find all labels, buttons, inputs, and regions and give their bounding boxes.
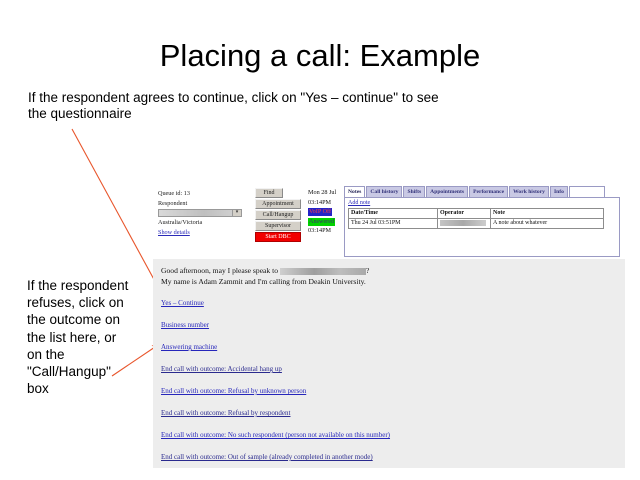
respondent-label: Respondent <box>158 199 248 209</box>
script-line-1-after: ? <box>366 266 369 275</box>
script-line-2: My name is Adam Zammit and I'm calling f… <box>161 276 617 287</box>
column-note: Note <box>491 209 604 219</box>
script-line-1-before: Good afternoon, may I please speak to <box>161 266 280 275</box>
arrow-to-script <box>72 129 163 296</box>
call-status-column: Mon 28 Jul 03:14PM VoIP Off Answered 03:… <box>308 188 348 236</box>
answered-status-badge: Answered <box>308 218 335 226</box>
cell-datetime: Thu 24 Jul 03:51PM <box>349 219 438 229</box>
voip-status-badge: VoIP Off <box>308 208 332 216</box>
slide-canvas: Placing a call: Example If the responden… <box>0 0 640 480</box>
queue-id-label: Queue id: 13 <box>158 189 248 199</box>
outcome-refusal-unknown-person[interactable]: End call with outcome: Refusal by unknow… <box>161 386 617 397</box>
redaction-block <box>440 220 486 226</box>
script-line-1: Good afternoon, may I please speak to ? <box>161 265 617 276</box>
tab-notes[interactable]: Notes <box>344 186 365 197</box>
chevron-down-icon[interactable]: ▾ <box>232 210 241 216</box>
column-datetime: Date/Time <box>349 209 438 219</box>
embedded-app-screenshot: Queue id: 13 Respondent ▾ Australia/Vict… <box>153 183 625 468</box>
queue-info-block: Queue id: 13 Respondent ▾ Australia/Vict… <box>158 189 248 237</box>
tab-strip-filler <box>569 186 605 197</box>
call-script-area: Good afternoon, may I please speak to ? … <box>153 259 625 468</box>
call-time-top: 03:14PM <box>308 198 348 208</box>
start-dbc-button[interactable]: Start DBC <box>255 232 301 242</box>
call-hangup-button[interactable]: Call/Hangup <box>255 210 301 220</box>
outcome-accidental-hang-up[interactable]: End call with outcome: Accidental hang u… <box>161 364 617 375</box>
timezone-label: Australia/Victoria <box>158 218 248 228</box>
notes-panel: Notes Call history Shifts Appointments P… <box>343 185 623 259</box>
respondent-select[interactable]: ▾ <box>158 209 242 217</box>
redaction-block-name <box>280 268 366 275</box>
call-time-bottom: 03:14PM <box>308 226 348 236</box>
table-header-row: Date/Time Operator Note <box>349 209 604 219</box>
callout-text-top: If the respondent agrees to continue, cl… <box>28 90 458 122</box>
tab-work-history[interactable]: Work history <box>509 186 549 197</box>
tab-info[interactable]: Info <box>550 186 568 197</box>
notes-tab-content: Add note Date/Time Operator Note Thu 24 … <box>344 197 620 257</box>
cell-operator <box>438 219 491 229</box>
panel-tab-strip: Notes Call history Shifts Appointments P… <box>344 186 605 197</box>
appointment-button[interactable]: Appointment <box>255 199 301 209</box>
table-row[interactable]: Thu 24 Jul 03:51PM A note about whatever <box>349 219 604 229</box>
show-details-link[interactable]: Show details <box>158 228 248 238</box>
tab-performance[interactable]: Performance <box>469 186 508 197</box>
notes-table: Date/Time Operator Note Thu 24 Jul 03:51… <box>348 208 604 229</box>
tab-shifts[interactable]: Shifts <box>403 186 425 197</box>
outcome-yes-continue[interactable]: Yes – Continue <box>161 298 617 309</box>
callout-text-left: If the respondent refuses, click on the … <box>27 277 132 397</box>
outcome-answering-machine[interactable]: Answering machine <box>161 342 617 353</box>
page-title: Placing a call: Example <box>0 38 640 74</box>
supervisor-button[interactable]: Supervisor <box>255 221 301 231</box>
column-operator: Operator <box>438 209 491 219</box>
outcome-no-such-respondent[interactable]: End call with outcome: No such responden… <box>161 430 617 441</box>
outcome-out-of-sample[interactable]: End call with outcome: Out of sample (al… <box>161 452 617 463</box>
tab-call-history[interactable]: Call history <box>366 186 402 197</box>
tab-appointments[interactable]: Appointments <box>426 186 468 197</box>
find-button[interactable]: Find <box>255 188 283 198</box>
outcome-business-number[interactable]: Business number <box>161 320 617 331</box>
outcome-refusal-by-respondent[interactable]: End call with outcome: Refusal by respon… <box>161 408 617 419</box>
cell-note: A note about whatever <box>491 219 604 229</box>
call-date: Mon 28 Jul <box>308 188 348 198</box>
app-toolbar-region: Queue id: 13 Respondent ▾ Australia/Vict… <box>153 183 625 259</box>
add-note-link[interactable]: Add note <box>348 200 616 206</box>
call-action-buttons: Find Appointment Call/Hangup Supervisor … <box>255 188 305 243</box>
